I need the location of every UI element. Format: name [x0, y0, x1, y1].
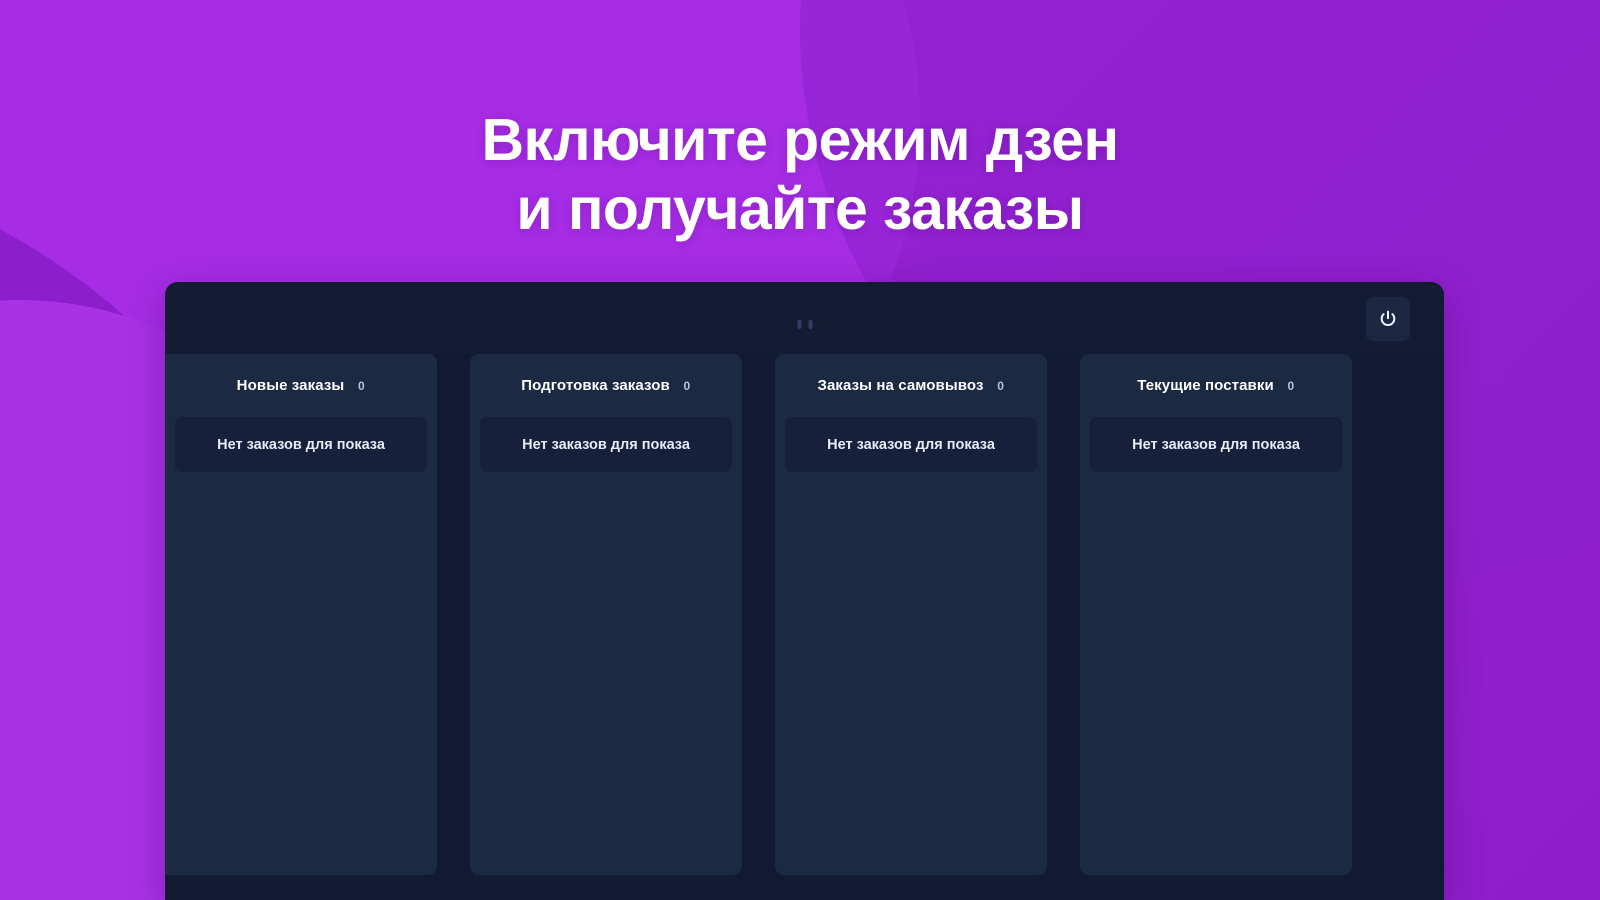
empty-state-text: Нет заказов для показа — [217, 437, 385, 453]
app-window: Новые заказы 0 Нет заказов для показа По… — [165, 282, 1444, 900]
column-body — [470, 472, 742, 875]
empty-state-card: Нет заказов для показа — [480, 417, 732, 472]
empty-state-card: Нет заказов для показа — [175, 417, 427, 472]
board-column-order-preparation[interactable]: Подготовка заказов 0 Нет заказов для пок… — [470, 354, 742, 875]
page-title-line-1: Включите режим дзен — [0, 106, 1600, 176]
column-body — [1080, 472, 1352, 875]
column-header: Подготовка заказов 0 — [470, 354, 742, 417]
empty-state-card: Нет заказов для показа — [1090, 417, 1342, 472]
column-count-badge: 0 — [683, 379, 691, 393]
orders-board: Новые заказы 0 Нет заказов для показа По… — [165, 354, 1444, 900]
window-titlebar — [165, 282, 1444, 354]
board-column-pickup-orders[interactable]: Заказы на самовывоз 0 Нет заказов для по… — [775, 354, 1047, 875]
column-body — [775, 472, 1047, 875]
empty-state-text: Нет заказов для показа — [522, 437, 690, 453]
column-title: Новые заказы — [237, 377, 345, 394]
empty-state-text: Нет заказов для показа — [1132, 437, 1300, 453]
column-count-badge: 0 — [1287, 379, 1295, 393]
board-column-current-deliveries[interactable]: Текущие поставки 0 Нет заказов для показ… — [1080, 354, 1352, 875]
empty-state-text: Нет заказов для показа — [827, 437, 995, 453]
power-button[interactable] — [1366, 297, 1410, 341]
screenshot-root: Включите режим дзен и получайте заказы — [0, 0, 1600, 900]
column-header: Заказы на самовывоз 0 — [775, 354, 1047, 417]
column-count-badge: 0 — [997, 379, 1005, 393]
page-title-line-2: и получайте заказы — [0, 175, 1600, 245]
column-body — [165, 472, 437, 875]
column-header: Новые заказы 0 — [165, 354, 437, 417]
column-title: Подготовка заказов — [521, 377, 670, 394]
drag-dot — [808, 320, 812, 329]
column-title: Заказы на самовывоз — [817, 377, 983, 394]
board-column-new-orders[interactable]: Новые заказы 0 Нет заказов для показа — [165, 354, 437, 875]
window-drag-handle[interactable] — [797, 320, 812, 329]
column-title: Текущие поставки — [1137, 377, 1274, 394]
page-title: Включите режим дзен и получайте заказы — [0, 106, 1600, 245]
empty-state-card: Нет заказов для показа — [785, 417, 1037, 472]
column-header: Текущие поставки 0 — [1080, 354, 1352, 417]
drag-dot — [797, 320, 801, 329]
power-icon — [1378, 309, 1398, 329]
column-count-badge: 0 — [357, 379, 365, 393]
